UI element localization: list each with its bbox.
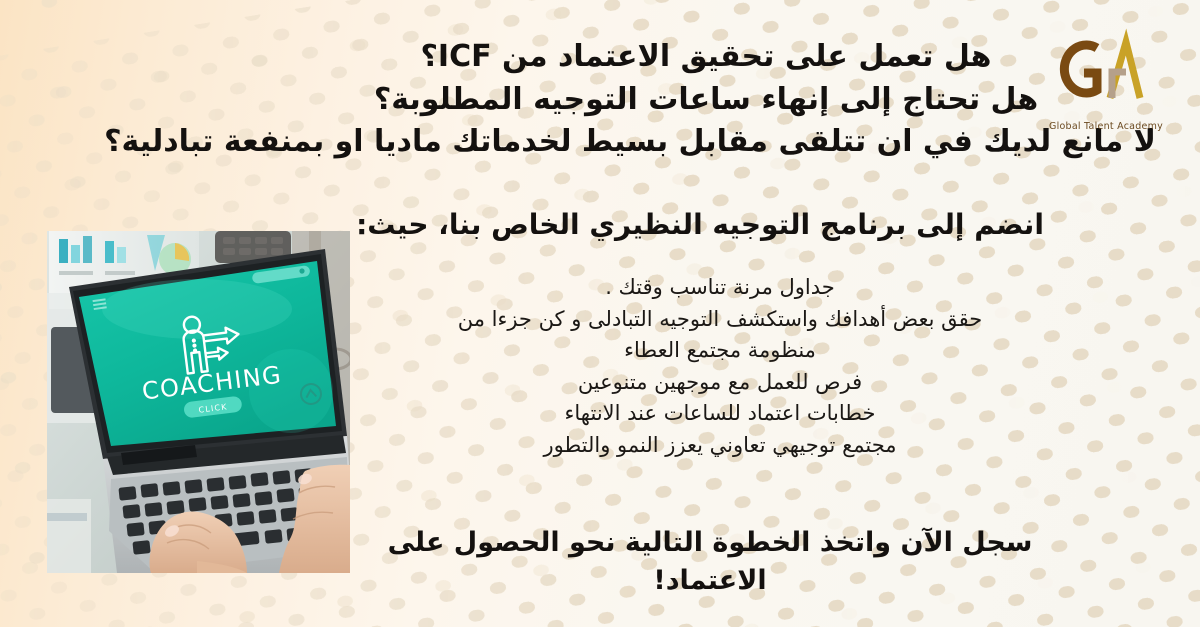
headline-line-1: هل تعمل على تحقيق الاعتماد من ICF؟ xyxy=(256,36,1156,79)
list-item: منظومة مجتمع العطاء xyxy=(270,335,1170,367)
headline-block: هل تعمل على تحقيق الاعتماد من ICF؟ هل تح… xyxy=(256,36,1156,164)
list-item: حقق بعض أهدافك واستكشف التوجيه التبادلى … xyxy=(270,304,1170,336)
subheadline: انضم إلى برنامج التوجيه النظيري الخاص بن… xyxy=(240,205,1160,244)
headline-line-2: هل تحتاج إلى إنهاء ساعات التوجيه المطلوب… xyxy=(256,79,1156,122)
list-item: جداول مرنة تناسب وقتك . xyxy=(270,272,1170,304)
list-item: فرص للعمل مع موجهين متنوعين xyxy=(270,367,1170,399)
list-item: مجتمع توجيهي تعاوني يعزز النمو والتطور xyxy=(270,430,1170,462)
headline-line-3: لا مانع لديك في ان تتلقى مقابل بسيط لخدم… xyxy=(256,121,1156,164)
logo-tagline: Global Talent Academy xyxy=(1040,121,1172,132)
cta-line-1: سجل الآن واتخذ الخطوة التالية نحو الحصول… xyxy=(260,524,1160,562)
cta-text: سجل الآن واتخذ الخطوة التالية نحو الحصول… xyxy=(260,524,1160,601)
brand-logo: Global Talent Academy xyxy=(1040,26,1172,138)
benefits-list: جداول مرنة تناسب وقتك . حقق بعض أهدافك و… xyxy=(270,272,1170,461)
logo-mark-icon xyxy=(1040,26,1172,120)
promo-poster: Global Talent Academy هل تعمل على تحقيق … xyxy=(0,0,1200,627)
list-item: خطابات اعتماد للساعات عند الانتهاء xyxy=(270,398,1170,430)
cta-line-2: الاعتماد! xyxy=(260,562,1160,600)
